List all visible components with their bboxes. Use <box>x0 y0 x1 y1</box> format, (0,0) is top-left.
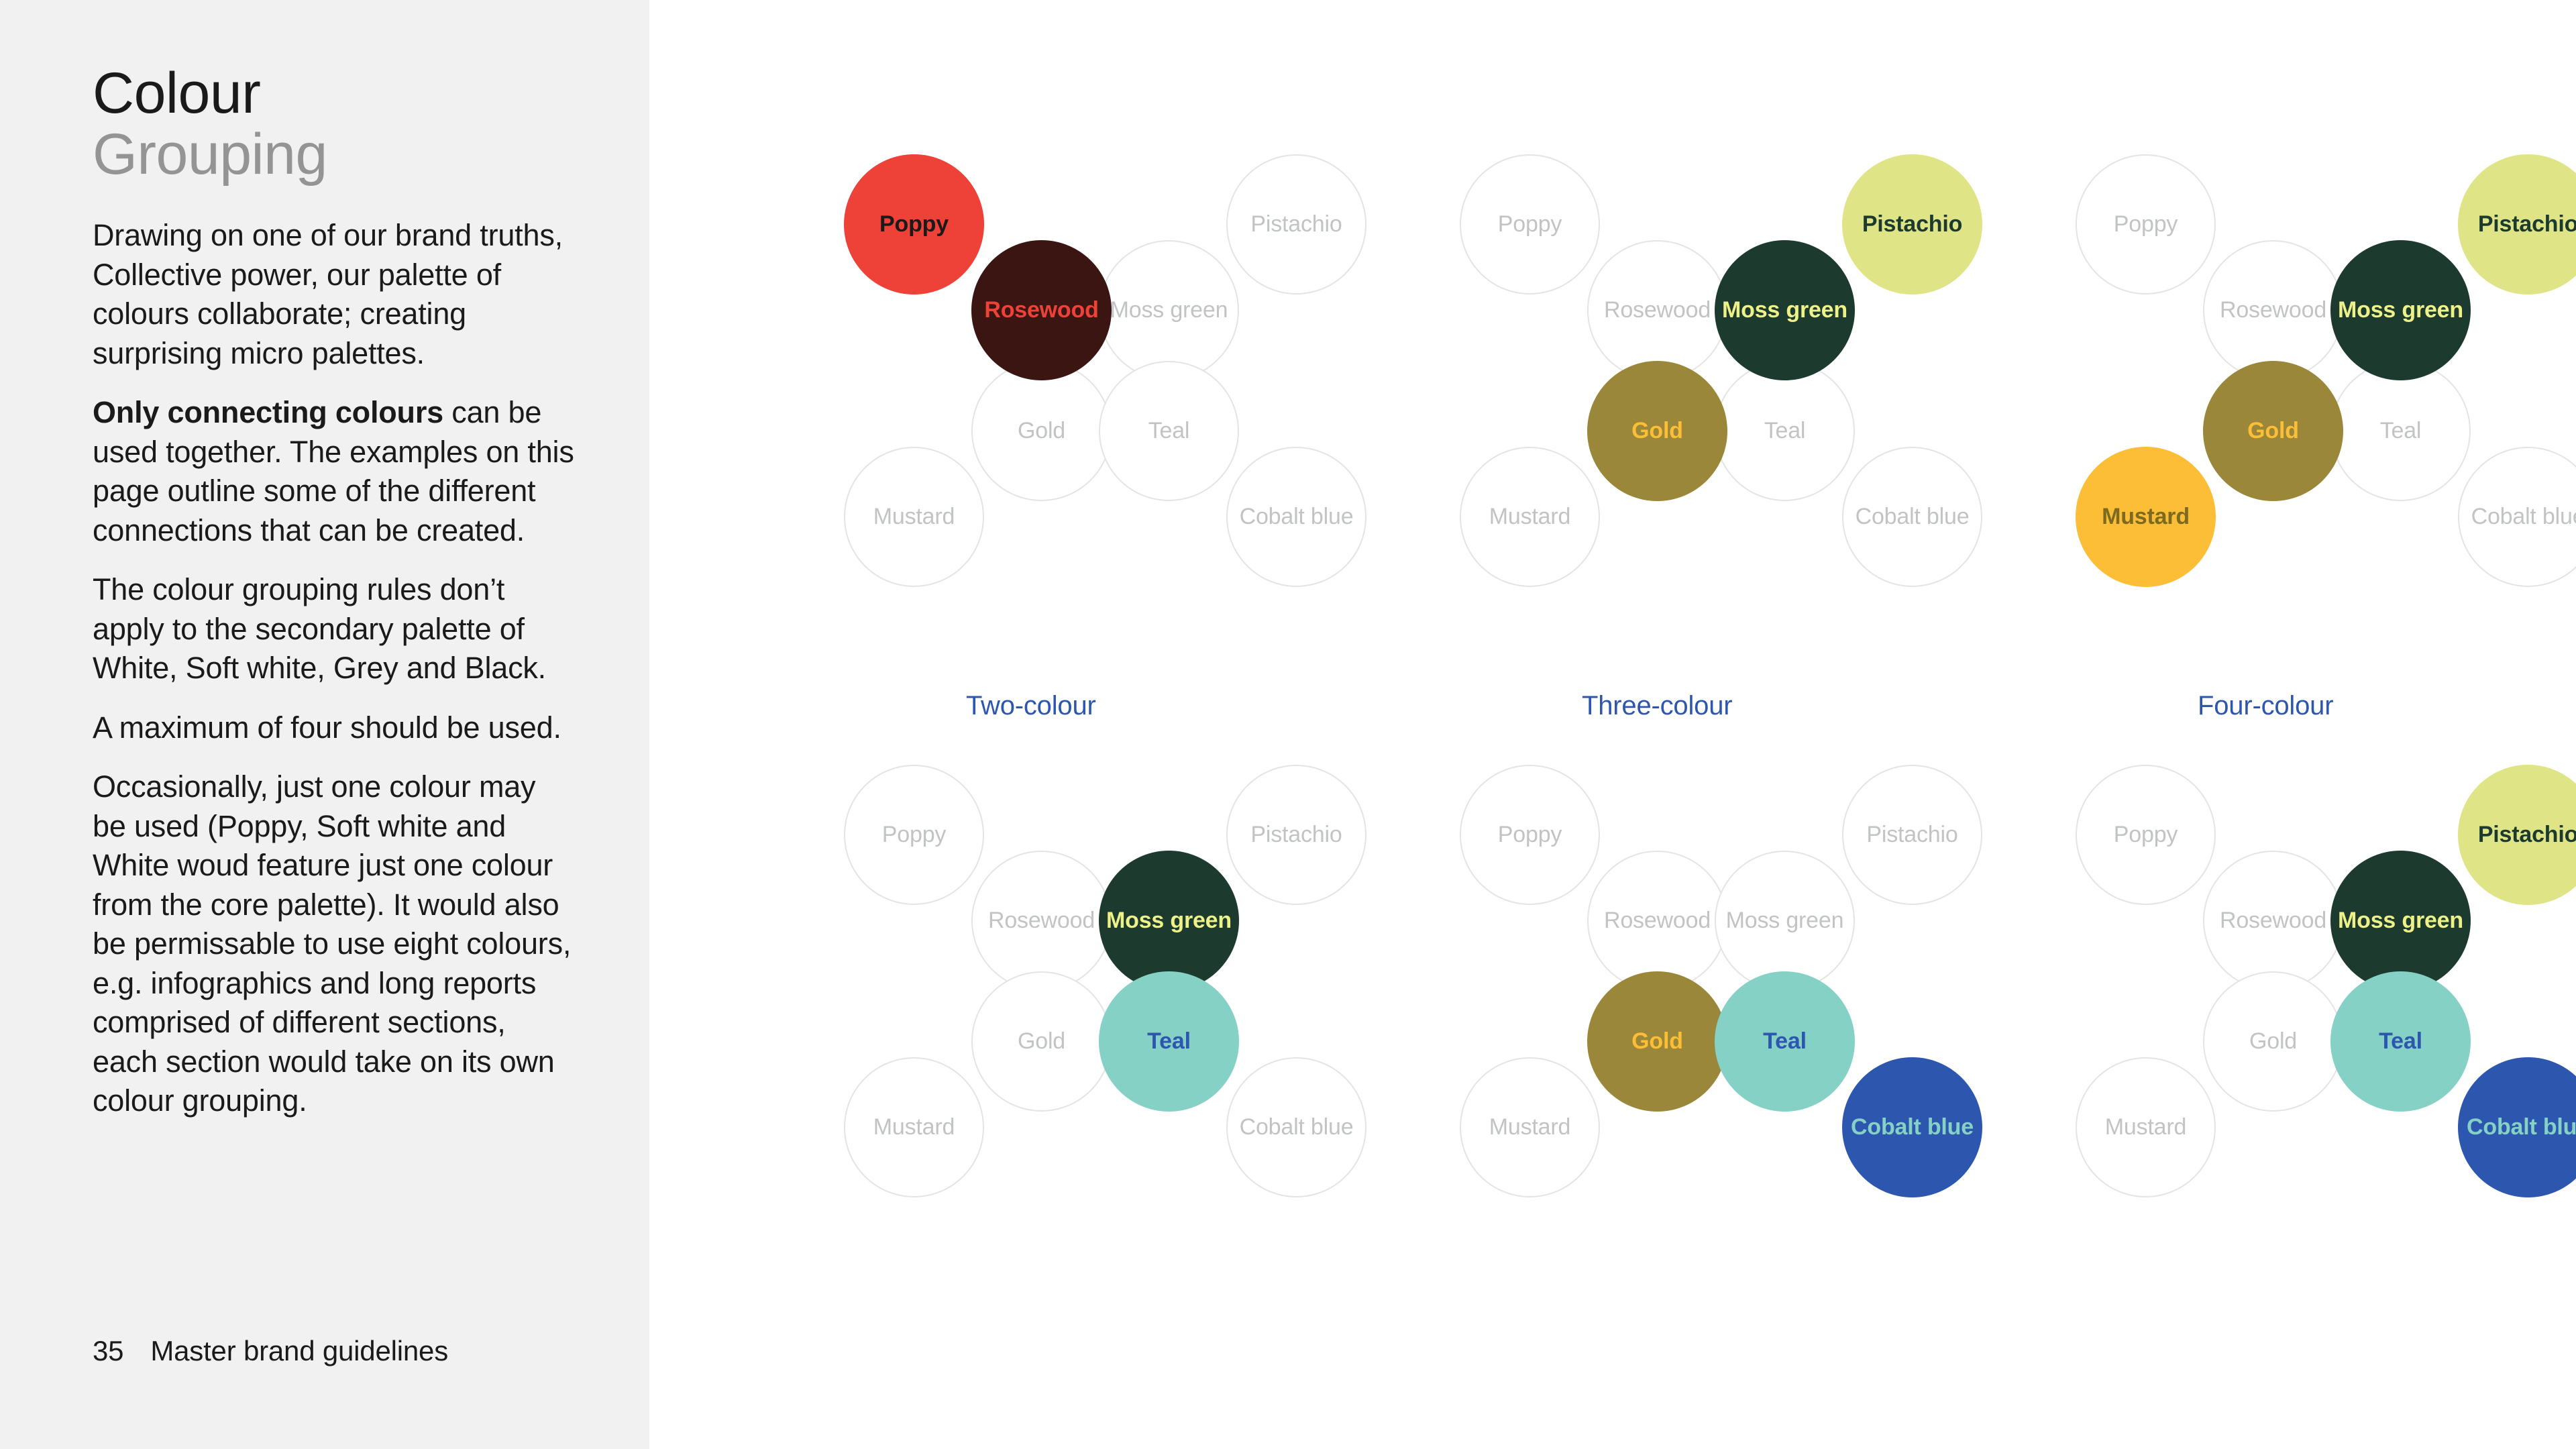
colour-node-teal-inactive[interactable]: Teal <box>2330 361 2471 501</box>
colour-node-label: Rosewood <box>984 299 1098 323</box>
colour-node-mustard-inactive[interactable]: Mustard <box>1460 447 1600 587</box>
colour-node-gold-inactive[interactable]: Gold <box>971 971 1112 1112</box>
colour-node-label: Gold <box>1018 1030 1065 1054</box>
colour-node-teal-active[interactable]: Teal <box>1099 971 1239 1112</box>
colour-node-rosewood-active[interactable]: Rosewood <box>971 240 1112 380</box>
colour-node-label: Moss green <box>1106 909 1232 933</box>
colour-node-poppy-inactive[interactable]: Poppy <box>1460 765 1600 905</box>
colour-node-label: Gold <box>2249 1030 2297 1054</box>
colour-node-cobalt-blue-inactive[interactable]: Cobalt blue <box>1842 447 1982 587</box>
colour-node-pistachio-active[interactable]: Pistachio <box>2458 154 2576 294</box>
colour-node-cobalt-blue-active[interactable]: Cobalt blue <box>2458 1057 2576 1197</box>
colour-node-poppy-inactive[interactable]: Poppy <box>1460 154 1600 294</box>
colour-node-teal-inactive[interactable]: Teal <box>1099 361 1239 501</box>
colour-node-gold-active[interactable]: Gold <box>1587 361 1727 501</box>
colour-node-label: Pistachio <box>2478 823 2576 847</box>
page-title: Colour <box>93 64 577 122</box>
sidebar: Colour Grouping Drawing on one of our br… <box>0 0 649 1449</box>
colour-node-label: Cobalt blue <box>2471 505 2576 529</box>
colour-node-teal-active[interactable]: Teal <box>1715 971 1855 1112</box>
colour-node-label: Mustard <box>1489 1116 1570 1140</box>
colour-node-gold-active[interactable]: Gold <box>2203 361 2343 501</box>
colour-node-label: Mustard <box>873 1116 955 1140</box>
colour-node-rosewood-inactive[interactable]: Rosewood <box>971 851 1112 991</box>
diagram-three-colour: PoppyPistachioRosewoodMoss greenGoldTeal… <box>1460 154 2070 691</box>
diagram-area: PoppyPistachioRosewoodMoss greenGoldTeal… <box>649 0 2576 1449</box>
colour-node-label: Rosewood <box>988 909 1095 933</box>
colour-node-rosewood-inactive[interactable]: Rosewood <box>1587 240 1727 380</box>
colour-node-label: Pistachio <box>1862 213 1962 237</box>
colour-node-gold-active[interactable]: Gold <box>1587 971 1727 1112</box>
colour-node-label: Rosewood <box>2220 909 2326 933</box>
colour-node-label: Pistachio <box>2478 213 2576 237</box>
diagram-four-colour-b: PoppyPistachioRosewoodMoss greenGoldTeal… <box>2076 765 2576 1301</box>
body-paragraph-2: Only connecting colours can be used toge… <box>93 393 577 550</box>
diagram-caption-three-colour: Three-colour <box>1582 691 1732 721</box>
colour-node-label: Poppy <box>1498 213 1562 237</box>
body-paragraph-5: Occasionally, just one colour may be use… <box>93 767 577 1121</box>
footer-label: Master brand guidelines <box>150 1335 448 1367</box>
body-paragraph-4: A maximum of four should be used. <box>93 708 577 748</box>
colour-node-label: Gold <box>1631 419 1683 443</box>
colour-node-pistachio-inactive[interactable]: Pistachio <box>1226 154 1366 294</box>
colour-node-rosewood-inactive[interactable]: Rosewood <box>2203 851 2343 991</box>
colour-node-label: Teal <box>1764 419 1806 443</box>
colour-node-label: Moss green <box>1110 299 1228 323</box>
colour-node-pistachio-inactive[interactable]: Pistachio <box>1226 765 1366 905</box>
colour-node-moss-green-inactive[interactable]: Moss green <box>1099 240 1239 380</box>
colour-node-mustard-inactive[interactable]: Mustard <box>2076 1057 2216 1197</box>
colour-node-label: Gold <box>1018 419 1065 443</box>
colour-node-mustard-inactive[interactable]: Mustard <box>844 1057 984 1197</box>
diagram-two-colour: PoppyPistachioRosewoodMoss greenGoldTeal… <box>844 154 1454 691</box>
diagram-grid: PoppyPistachioRosewoodMoss greenGoldTeal… <box>649 0 2576 1449</box>
colour-node-cobalt-blue-inactive[interactable]: Cobalt blue <box>1226 447 1366 587</box>
diagram-caption-four-colour: Four-colour <box>2198 691 2333 721</box>
colour-node-label: Rosewood <box>2220 299 2326 323</box>
colour-node-label: Moss green <box>1722 299 1847 323</box>
colour-node-pistachio-active[interactable]: Pistachio <box>2458 765 2576 905</box>
colour-node-poppy-inactive[interactable]: Poppy <box>2076 765 2216 905</box>
colour-node-mustard-inactive[interactable]: Mustard <box>1460 1057 1600 1197</box>
colour-node-label: Teal <box>1148 419 1190 443</box>
colour-node-label: Cobalt blue <box>1240 1116 1354 1140</box>
colour-node-pistachio-inactive[interactable]: Pistachio <box>1842 765 1982 905</box>
diagram-four-colour: PoppyPistachioRosewoodMoss greenGoldTeal… <box>2076 154 2576 691</box>
colour-node-label: Teal <box>2380 419 2422 443</box>
colour-node-poppy-active[interactable]: Poppy <box>844 154 984 294</box>
diagram-three-colour-b: PoppyPistachioRosewoodMoss greenGoldTeal… <box>1460 765 2070 1301</box>
colour-node-label: Moss green <box>1726 909 1844 933</box>
diagram-two-colour-b: PoppyPistachioRosewoodMoss greenGoldTeal… <box>844 765 1454 1301</box>
colour-node-moss-green-active[interactable]: Moss green <box>2330 851 2471 991</box>
colour-node-label: Cobalt blue <box>2467 1116 2576 1140</box>
footer-page-number: 35 <box>93 1335 123 1367</box>
page-root: Colour Grouping Drawing on one of our br… <box>0 0 2576 1449</box>
colour-node-label: Cobalt blue <box>1851 1116 1974 1140</box>
colour-node-label: Gold <box>2247 419 2299 443</box>
colour-node-label: Teal <box>1147 1030 1191 1054</box>
colour-node-label: Poppy <box>882 823 946 847</box>
colour-node-teal-inactive[interactable]: Teal <box>1715 361 1855 501</box>
colour-node-label: Moss green <box>2338 909 2463 933</box>
colour-node-rosewood-inactive[interactable]: Rosewood <box>2203 240 2343 380</box>
footer: 35 Master brand guidelines <box>93 1335 448 1367</box>
colour-node-label: Gold <box>1631 1030 1683 1054</box>
colour-node-rosewood-inactive[interactable]: Rosewood <box>1587 851 1727 991</box>
colour-node-poppy-inactive[interactable]: Poppy <box>844 765 984 905</box>
colour-node-label: Poppy <box>879 213 949 237</box>
colour-node-label: Mustard <box>2105 1116 2186 1140</box>
colour-node-moss-green-active[interactable]: Moss green <box>1715 240 1855 380</box>
colour-node-label: Pistachio <box>1250 823 1342 847</box>
colour-node-gold-inactive[interactable]: Gold <box>971 361 1112 501</box>
diagram-caption-two-colour: Two-colour <box>966 691 1096 721</box>
colour-node-mustard-active[interactable]: Mustard <box>2076 447 2216 587</box>
colour-node-label: Poppy <box>2114 823 2178 847</box>
colour-node-label: Cobalt blue <box>1240 505 1354 529</box>
sidebar-content: Colour Grouping Drawing on one of our br… <box>93 64 577 1141</box>
colour-node-label: Teal <box>1763 1030 1807 1054</box>
colour-node-label: Pistachio <box>1250 213 1342 237</box>
page-subtitle: Grouping <box>93 122 577 186</box>
colour-node-label: Mustard <box>1489 505 1570 529</box>
colour-node-label: Rosewood <box>1604 909 1711 933</box>
colour-node-mustard-inactive[interactable]: Mustard <box>844 447 984 587</box>
colour-node-label: Rosewood <box>1604 299 1711 323</box>
colour-node-moss-green-inactive[interactable]: Moss green <box>1715 851 1855 991</box>
colour-node-pistachio-active[interactable]: Pistachio <box>1842 154 1982 294</box>
colour-node-cobalt-blue-inactive[interactable]: Cobalt blue <box>1226 1057 1366 1197</box>
colour-node-label: Mustard <box>2102 505 2190 529</box>
colour-node-poppy-inactive[interactable]: Poppy <box>2076 154 2216 294</box>
bold-lead: Only connecting colours <box>93 395 443 429</box>
body-paragraph-3: The colour grouping rules don’t apply to… <box>93 570 577 688</box>
colour-node-cobalt-blue-active[interactable]: Cobalt blue <box>1842 1057 1982 1197</box>
colour-node-label: Teal <box>2379 1030 2422 1054</box>
colour-node-label: Moss green <box>2338 299 2463 323</box>
colour-node-label: Cobalt blue <box>1856 505 1970 529</box>
colour-node-gold-inactive[interactable]: Gold <box>2203 971 2343 1112</box>
colour-node-label: Poppy <box>2114 213 2178 237</box>
colour-node-label: Poppy <box>1498 823 1562 847</box>
colour-node-cobalt-blue-inactive[interactable]: Cobalt blue <box>2458 447 2576 587</box>
colour-node-label: Mustard <box>873 505 955 529</box>
body-paragraph-1: Drawing on one of our brand truths, Coll… <box>93 216 577 373</box>
colour-node-moss-green-active[interactable]: Moss green <box>2330 240 2471 380</box>
colour-node-label: Pistachio <box>1866 823 1957 847</box>
colour-node-teal-active[interactable]: Teal <box>2330 971 2471 1112</box>
colour-node-moss-green-active[interactable]: Moss green <box>1099 851 1239 991</box>
